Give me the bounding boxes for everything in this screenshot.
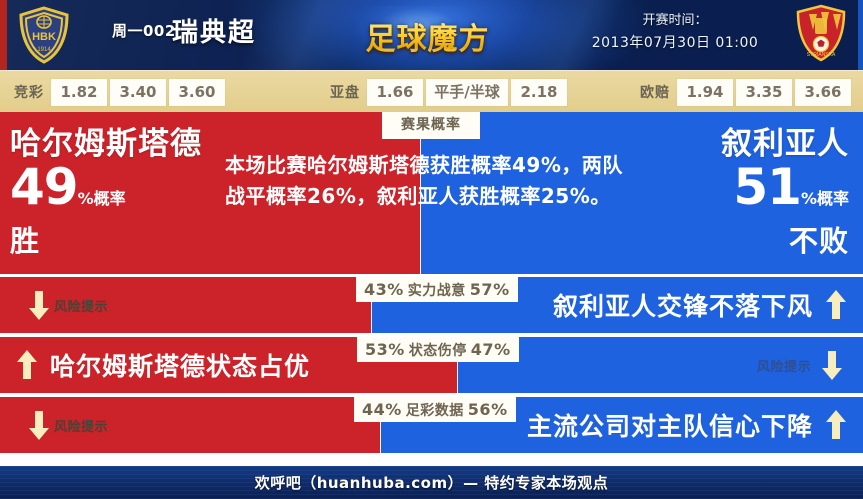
home-team-name: 哈尔姆斯塔德 xyxy=(10,126,215,162)
home-result-label: 胜 xyxy=(10,224,215,258)
arrow-up-icon xyxy=(821,408,851,442)
kickoff-label: 开赛时间： xyxy=(585,10,765,32)
header-right-accent-bar xyxy=(858,0,863,70)
row2-away-note-text: 风险提示 xyxy=(757,356,811,375)
row3-metric-name: 足彩数据 xyxy=(406,403,464,419)
kickoff-time: 2013年07月30日 01:00 xyxy=(585,32,765,54)
footer-bar: 欢呼吧（huanhuba.com）— 特约专家本场观点 xyxy=(0,466,863,499)
comparison-row: 53%状态伤停47% 哈尔姆斯塔德状态占优 风险提示 xyxy=(0,337,863,393)
row2-metric-label: 53%状态伤停47% xyxy=(357,337,519,362)
result-probability-panel: 赛果概率 哈尔姆斯塔德 49%概率 胜 叙利亚人 51%概率 不败 本场比赛哈尔… xyxy=(0,112,863,274)
odds-cell[interactable]: 1.82 xyxy=(51,79,107,106)
league-name: 瑞典超 xyxy=(172,12,256,49)
header-left-accent-bar xyxy=(0,0,7,70)
away-team-name: 叙利亚人 xyxy=(644,126,849,162)
away-pct-unit: %概率 xyxy=(801,189,849,208)
svg-text:SYRIANSKA: SYRIANSKA xyxy=(807,52,836,58)
odds-group-label: 竞彩 xyxy=(14,82,44,102)
row3-home-note: 风险提示 xyxy=(24,397,108,453)
away-team-block: 叙利亚人 51%概率 不败 xyxy=(644,126,849,258)
odds-cell[interactable]: 1.66 xyxy=(367,79,423,106)
away-probability-value: 51%概率 xyxy=(644,162,849,224)
row2-away-note: 风险提示 xyxy=(757,337,847,393)
home-team-crest-icon: HBK 1914 xyxy=(18,6,70,64)
row1-home-pct: 43% xyxy=(364,280,404,299)
odds-group-yapan: 亚盘 1.66 平手/半球 2.18 xyxy=(330,71,570,113)
odds-group-oupei: 欧赔 1.94 3.35 3.66 xyxy=(640,71,854,113)
odds-cell[interactable]: 3.40 xyxy=(110,79,166,106)
odds-group-jingcai: 竞彩 1.82 3.40 3.60 xyxy=(14,71,228,113)
kickoff-block: 开赛时间： 2013年07月30日 01:00 xyxy=(585,10,765,54)
arrow-up-icon xyxy=(12,348,42,382)
row2-metric-name: 状态伤停 xyxy=(409,343,467,359)
away-result-label: 不败 xyxy=(644,224,849,258)
arrow-up-icon xyxy=(821,288,851,322)
match-header: HBK 1914 SYRIANSKA 周一002 瑞典超 足球魔方 开赛时间： … xyxy=(0,0,863,70)
away-team-crest-icon: SYRIANSKA xyxy=(795,4,847,62)
row1-away-pct: 57% xyxy=(470,280,510,299)
row1-metric-name: 实力战意 xyxy=(408,283,466,299)
arrow-down-icon xyxy=(24,408,54,442)
row1-home-note-text: 风险提示 xyxy=(54,296,108,315)
odds-cell[interactable]: 1.94 xyxy=(677,79,733,106)
home-pct-number: 49 xyxy=(10,158,78,216)
odds-group-label: 亚盘 xyxy=(330,82,360,102)
row2-away-pct: 47% xyxy=(471,340,511,359)
row3-home-pct: 44% xyxy=(362,400,402,419)
comparison-row: 43%实力战意57% 风险提示 叙利亚人交锋不落下风 xyxy=(0,277,863,333)
arrow-down-icon xyxy=(817,348,847,382)
row1-away-note-text: 叙利亚人交锋不落下风 xyxy=(553,287,813,323)
match-number: 周一002 xyxy=(112,20,176,41)
row1-home-note: 风险提示 xyxy=(24,277,108,333)
row2-home-pct: 53% xyxy=(365,340,405,359)
row3-away-note-text: 主流公司对主队信心下降 xyxy=(527,407,813,443)
odds-bar: 竞彩 1.82 3.40 3.60 亚盘 1.66 平手/半球 2.18 欧赔 … xyxy=(0,70,863,113)
odds-cell-handicap[interactable]: 平手/半球 xyxy=(426,79,508,106)
footer-text: 欢呼吧（huanhuba.com）— 特约专家本场观点 xyxy=(255,472,609,493)
svg-text:HBK: HBK xyxy=(32,31,56,43)
logo-text: 足球魔方 xyxy=(355,14,500,58)
odds-cell[interactable]: 2.18 xyxy=(511,79,567,106)
site-logo[interactable]: 足球魔方 xyxy=(355,6,500,62)
row3-away-note: 主流公司对主队信心下降 xyxy=(527,397,851,453)
row1-metric-label: 43%实力战意57% xyxy=(356,277,518,302)
row3-home-note-text: 风险提示 xyxy=(54,416,108,435)
infographic-root: HBK 1914 SYRIANSKA 周一002 瑞典超 足球魔方 开赛时间： … xyxy=(0,0,863,499)
probability-description: 本场比赛哈尔姆斯塔德获胜概率49%，两队战平概率26%，叙利亚人获胜概率25%。 xyxy=(225,150,625,212)
home-pct-unit: %概率 xyxy=(78,189,126,208)
home-team-block: 哈尔姆斯塔德 49%概率 胜 xyxy=(10,126,215,258)
odds-cell[interactable]: 3.66 xyxy=(795,79,851,106)
row3-away-pct: 56% xyxy=(468,400,508,419)
row3-metric-label: 44%足彩数据56% xyxy=(354,397,516,422)
row1-away-note: 叙利亚人交锋不落下风 xyxy=(553,277,851,333)
svg-text:1914: 1914 xyxy=(37,47,51,53)
row2-home-note-text: 哈尔姆斯塔德状态占优 xyxy=(50,347,310,383)
odds-cell[interactable]: 3.35 xyxy=(736,79,792,106)
home-probability-value: 49%概率 xyxy=(10,162,215,224)
tab-result-probability[interactable]: 赛果概率 xyxy=(382,112,480,139)
comparison-row: 44%足彩数据56% 风险提示 主流公司对主队信心下降 xyxy=(0,397,863,453)
odds-group-label: 欧赔 xyxy=(640,82,670,102)
odds-cell[interactable]: 3.60 xyxy=(169,79,225,106)
away-pct-number: 51 xyxy=(733,158,801,216)
arrow-down-icon xyxy=(24,288,54,322)
row2-home-note: 哈尔姆斯塔德状态占优 xyxy=(12,337,310,393)
